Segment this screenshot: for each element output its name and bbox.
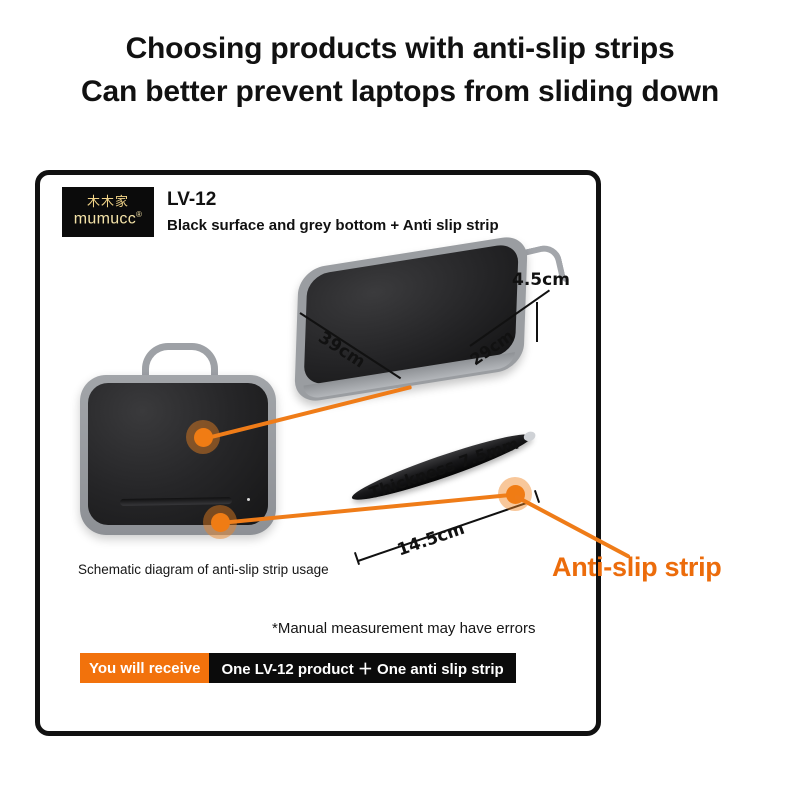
anti-slip-strip-label: Anti-slip strip xyxy=(552,552,722,583)
receive-label: You will receive xyxy=(80,653,209,683)
heading-line-2: Can better prevent laptops from sliding … xyxy=(0,71,800,114)
manual-measurement-note: *Manual measurement may have errors xyxy=(272,620,535,637)
product-model: LV-12 xyxy=(167,188,499,212)
registered-trademark-icon: ® xyxy=(136,210,142,219)
dimension-label-height: 4.5cm xyxy=(512,270,570,290)
brand-logo: 木木家 mumucc® xyxy=(62,187,154,237)
logo-chinese-text: 木木家 xyxy=(87,196,129,209)
receive-contents: One LV-12 product ＋ One anti slip strip xyxy=(209,653,515,683)
headings-block: Choosing products with anti-slip strips … xyxy=(0,28,800,113)
product-subtitle: Black surface and grey bottom + Anti sli… xyxy=(167,217,499,234)
front-pad-highlight-dot xyxy=(247,498,250,501)
dimension-line-height xyxy=(536,302,538,342)
brand-text-block: LV-12 Black surface and grey bottom + An… xyxy=(167,187,499,234)
callout-hotspot-strip-slot xyxy=(203,505,237,539)
schematic-caption: Schematic diagram of anti-slip strip usa… xyxy=(78,562,329,577)
product-image-front-pad xyxy=(80,375,276,535)
logo-latin-text: mumucc® xyxy=(74,211,142,227)
heading-line-1: Choosing products with anti-slip strips xyxy=(0,28,800,71)
you-will-receive-bar: You will receive One LV-12 product ＋ One… xyxy=(80,653,516,683)
callout-hotspot-top-surface xyxy=(186,420,220,454)
brand-row: 木木家 mumucc® LV-12 Black surface and grey… xyxy=(62,187,499,237)
logo-wordmark: mumucc xyxy=(74,211,136,228)
